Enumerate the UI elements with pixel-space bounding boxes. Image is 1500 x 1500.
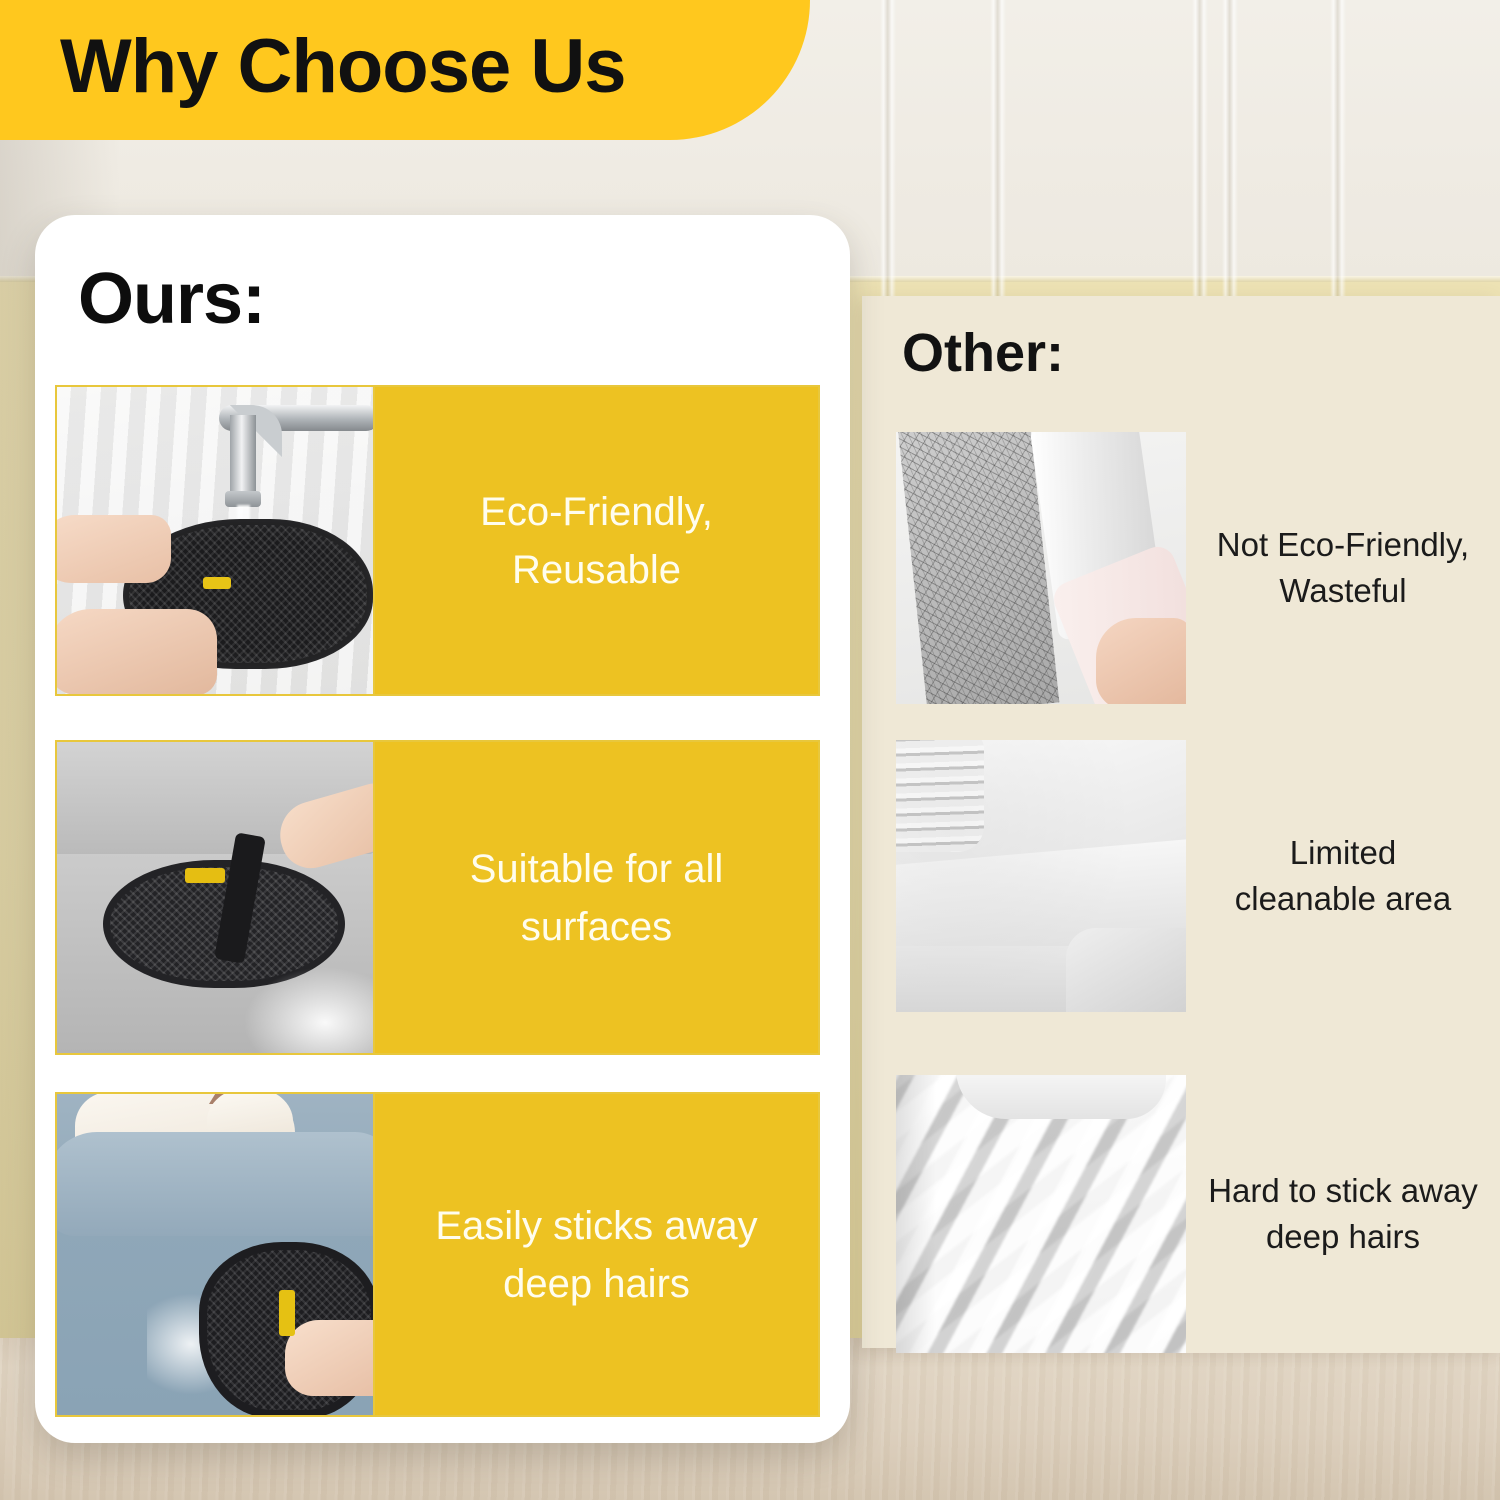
ours-heading: Ours: — [78, 258, 265, 340]
other-thumbnail-lint-roller — [896, 432, 1186, 704]
other-row: Limitedcleanable area — [896, 740, 1500, 1012]
why-choose-us-banner: Why Choose Us — [0, 0, 810, 140]
other-row: Hard to stick awaydeep hairs — [896, 1075, 1500, 1353]
ours-thumbnail-washing-mitt — [57, 387, 375, 694]
banner-title: Why Choose Us — [60, 23, 626, 110]
ours-row: Eco-Friendly,Reusable — [55, 385, 820, 696]
ours-thumbnail-sofa-cleaning — [57, 742, 375, 1053]
ours-caption: Eco-Friendly,Reusable — [375, 387, 818, 694]
ours-row: Easily sticks awaydeep hairs — [55, 1092, 820, 1417]
infographic-stage: Other: Not Eco-Friendly,Wasteful Limited… — [0, 0, 1500, 1500]
ours-thumbnail-cat-on-bed — [57, 1094, 375, 1415]
other-thumbnail-white-bedding — [896, 1075, 1186, 1353]
other-caption: Limitedcleanable area — [1186, 740, 1500, 1012]
ours-caption: Easily sticks awaydeep hairs — [375, 1094, 818, 1415]
ours-row: Suitable for allsurfaces — [55, 740, 820, 1055]
other-caption: Not Eco-Friendly,Wasteful — [1186, 432, 1500, 704]
other-thumbnail-white-sofa — [896, 740, 1186, 1012]
ours-caption: Suitable for allsurfaces — [375, 742, 818, 1053]
other-caption: Hard to stick awaydeep hairs — [1186, 1075, 1500, 1353]
other-row: Not Eco-Friendly,Wasteful — [896, 432, 1500, 704]
other-heading: Other: — [902, 322, 1064, 384]
